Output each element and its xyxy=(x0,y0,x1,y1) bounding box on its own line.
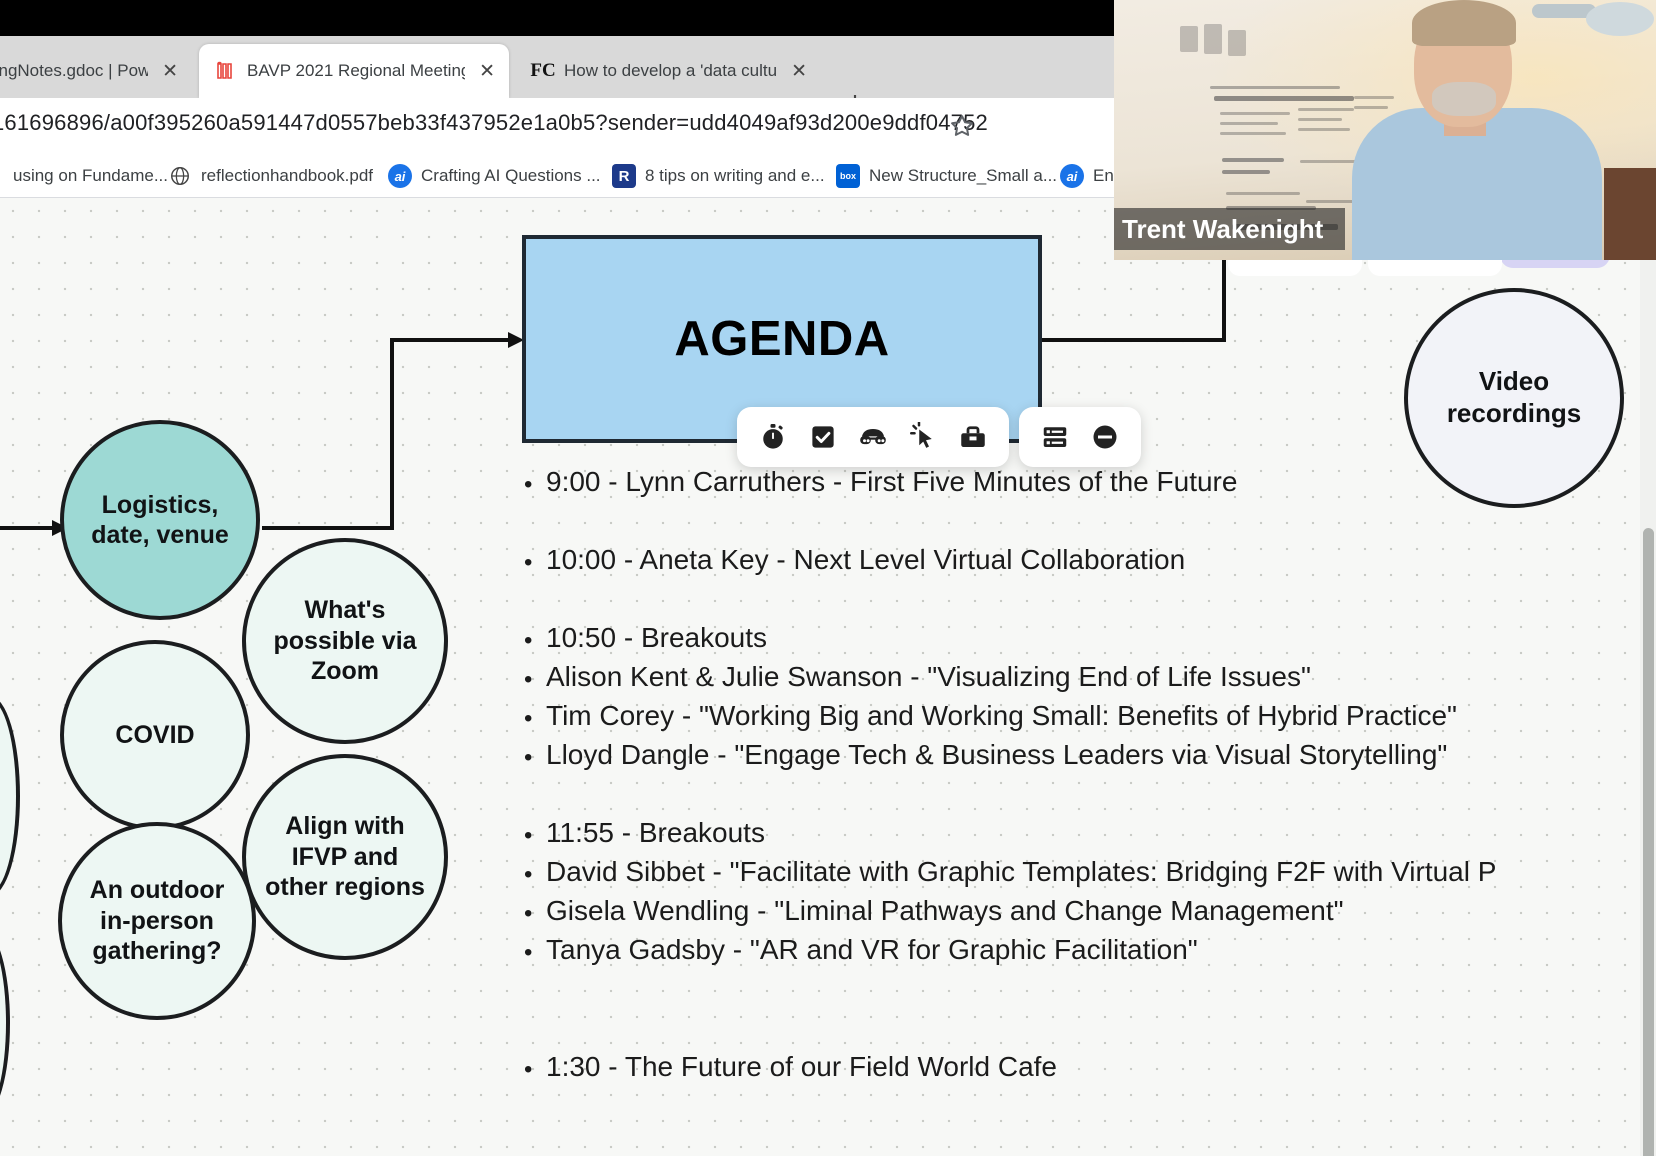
node-label: Logistics, date, venue xyxy=(91,490,229,551)
video-participant-tile[interactable]: Trent Wakenight xyxy=(1114,0,1656,260)
bookmark-label: using on Fundame... xyxy=(13,166,168,186)
box-icon-text: box xyxy=(840,171,856,181)
bookmark-item-0[interactable]: using on Fundame... xyxy=(0,163,168,189)
bookmark-label: reflectionhandbook.pdf xyxy=(201,166,373,186)
tab-title: How to develop a 'data culture' xyxy=(564,61,777,81)
agenda-item-text: Alison Kent & Julie Swanson - "Visualizi… xyxy=(546,663,1311,691)
node-whats-possible-zoom[interactable]: What's possible via Zoom xyxy=(242,538,448,744)
agenda-item: • David Sibbet - "Facilitate with Graphi… xyxy=(524,858,1644,897)
agenda-item: • Alison Kent & Julie Swanson - "Visuali… xyxy=(524,663,1644,702)
ceiling-fan-icon xyxy=(1586,2,1654,36)
box-icon: box xyxy=(836,164,860,188)
chip-card-green-body xyxy=(1368,260,1502,276)
ai-icon: ai xyxy=(388,164,412,188)
miro-icon xyxy=(215,60,237,82)
timer-icon[interactable] xyxy=(751,415,795,459)
browser-tab-2[interactable]: FC How to develop a 'data culture' ✕ xyxy=(516,44,821,98)
participant-beard xyxy=(1432,82,1496,116)
browser-tab-0[interactable]: tingNotes.gdoc | Pow ✕ xyxy=(0,44,192,98)
agenda-item: • Lloyd Dangle - "Engage Tech & Business… xyxy=(524,741,1644,780)
bookmark-item-1[interactable]: reflectionhandbook.pdf xyxy=(168,163,373,189)
node-logistics-date-venue[interactable]: Logistics, date, venue xyxy=(60,420,260,620)
node-video-recordings[interactable]: Video recordings xyxy=(1404,288,1624,508)
fastcompany-icon: FC xyxy=(532,60,554,82)
bullet-icon: • xyxy=(524,546,546,580)
close-icon[interactable]: ✕ xyxy=(162,62,178,81)
agenda-item: • 1:30 - The Future of our Field World C… xyxy=(524,1053,1644,1092)
list-layout-icon[interactable] xyxy=(1033,415,1077,459)
node-outdoor-gathering[interactable]: An outdoor in-person gathering? xyxy=(58,822,256,1020)
agenda-spacer xyxy=(524,780,1644,819)
page-icon xyxy=(0,164,4,188)
bookmark-item-2[interactable]: ai Crafting AI Questions ... xyxy=(388,163,601,189)
participant-hair xyxy=(1412,0,1516,46)
ai-icon-text: ai xyxy=(1067,169,1078,184)
tab-title: BAVP 2021 Regional Meeting Su xyxy=(247,61,465,81)
agenda-item-text: 10:00 - Aneta Key - Next Level Virtual C… xyxy=(546,546,1185,574)
agenda-item-text: Tim Corey - "Working Big and Working Sma… xyxy=(546,702,1457,730)
node-covid[interactable]: COVID xyxy=(60,640,250,830)
cursor-click-icon[interactable] xyxy=(901,415,945,459)
bookmark-label: Crafting AI Questions ... xyxy=(421,166,601,186)
bookmark-star-icon[interactable] xyxy=(948,112,976,140)
close-icon[interactable]: ✕ xyxy=(479,62,495,81)
vertical-scrollbar[interactable] xyxy=(1643,528,1654,1156)
agenda-item-text: Tanya Gadsby - "AR and VR for Graphic Fa… xyxy=(546,936,1198,964)
agenda-item-text: Gisela Wendling - "Liminal Pathways and … xyxy=(546,897,1344,925)
r-icon: R xyxy=(612,164,636,188)
agenda-item-text: 11:55 - Breakouts xyxy=(546,819,765,847)
bullet-icon: • xyxy=(524,936,546,970)
minus-circle-icon[interactable] xyxy=(1083,415,1127,459)
agenda-spacer xyxy=(524,975,1644,1014)
bullet-icon: • xyxy=(524,741,546,775)
couch xyxy=(1604,168,1656,260)
browser-tab-1[interactable]: BAVP 2021 Regional Meeting Su ✕ xyxy=(199,44,509,98)
bullet-icon: • xyxy=(524,858,546,892)
bullet-icon: • xyxy=(524,468,546,502)
agenda-item-text: David Sibbet - "Facilitate with Graphic … xyxy=(546,858,1496,886)
bullet-icon: • xyxy=(524,897,546,931)
node-label: Align with IFVP and other regions xyxy=(265,811,425,903)
whiteboard-canvas[interactable]: AGENDA • 9:00 - Lynn Carruthers - First … xyxy=(0,198,1656,1156)
participant-name: Trent Wakenight xyxy=(1122,214,1323,245)
bookmark-label: 8 tips on writing and e... xyxy=(645,166,825,186)
node-label: An outdoor in-person gathering? xyxy=(90,875,225,967)
close-icon[interactable]: ✕ xyxy=(791,62,807,81)
board-toolbar-right[interactable] xyxy=(1019,407,1141,467)
agenda-list[interactable]: • 9:00 - Lynn Carruthers - First Five Mi… xyxy=(524,468,1644,1092)
agenda-spacer xyxy=(524,507,1644,546)
r-icon-text: R xyxy=(619,168,630,185)
incognito-glasses-icon[interactable] xyxy=(851,415,895,459)
ai-icon-text: ai xyxy=(395,169,406,184)
bullet-icon: • xyxy=(524,702,546,736)
bookmark-item-3[interactable]: R 8 tips on writing and e... xyxy=(612,163,825,189)
node-label: COVID xyxy=(115,720,194,751)
agenda-item: • 10:50 - Breakouts xyxy=(524,624,1644,663)
node-label: Video recordings xyxy=(1447,366,1581,429)
bullet-icon: • xyxy=(524,624,546,658)
toolbox-icon[interactable] xyxy=(951,415,995,459)
globe-icon xyxy=(168,164,192,188)
agenda-spacer xyxy=(524,585,1644,624)
agenda-item: • Tim Corey - "Working Big and Working S… xyxy=(524,702,1644,741)
board-toolbar-left[interactable] xyxy=(737,407,1009,467)
page-title: AGENDA xyxy=(674,311,889,367)
checkbox-icon[interactable] xyxy=(801,415,845,459)
agenda-item: • Tanya Gadsby - "AR and VR for Graphic … xyxy=(524,936,1644,975)
agenda-item-text: 9:00 - Lynn Carruthers - First Five Minu… xyxy=(546,468,1237,496)
agenda-item-text: Lloyd Dangle - "Engage Tech & Business L… xyxy=(546,741,1447,769)
agenda-item: • 11:55 - Breakouts xyxy=(524,819,1644,858)
address-bar-url[interactable]: 161696896/a00f395260a591447d0557beb33f43… xyxy=(0,110,988,136)
agenda-item-text: 10:50 - Breakouts xyxy=(546,624,767,652)
node-align-ifvp[interactable]: Align with IFVP and other regions xyxy=(242,754,448,960)
bookmark-label: New Structure_Small a... xyxy=(869,166,1057,186)
bookmark-item-4[interactable]: box New Structure_Small a... xyxy=(836,163,1057,189)
tab-title: tingNotes.gdoc | Pow xyxy=(0,61,148,81)
agenda-item: • 10:00 - Aneta Key - Next Level Virtual… xyxy=(524,546,1644,585)
chip-card-red-body xyxy=(1228,260,1362,276)
agenda-item-text: 1:30 - The Future of our Field World Caf… xyxy=(546,1053,1057,1081)
bullet-icon: • xyxy=(524,663,546,697)
bullet-icon: • xyxy=(524,819,546,853)
ai-icon: ai xyxy=(1060,164,1084,188)
participant-name-plate: Trent Wakenight xyxy=(1114,208,1345,250)
node-label: What's possible via Zoom xyxy=(273,595,416,687)
bullet-icon: • xyxy=(524,1053,546,1087)
agenda-spacer xyxy=(524,1014,1644,1053)
browser-window: tingNotes.gdoc | Pow ✕ BAVP 2021 Regiona… xyxy=(0,0,1656,1156)
agenda-item: • Gisela Wendling - "Liminal Pathways an… xyxy=(524,897,1644,936)
